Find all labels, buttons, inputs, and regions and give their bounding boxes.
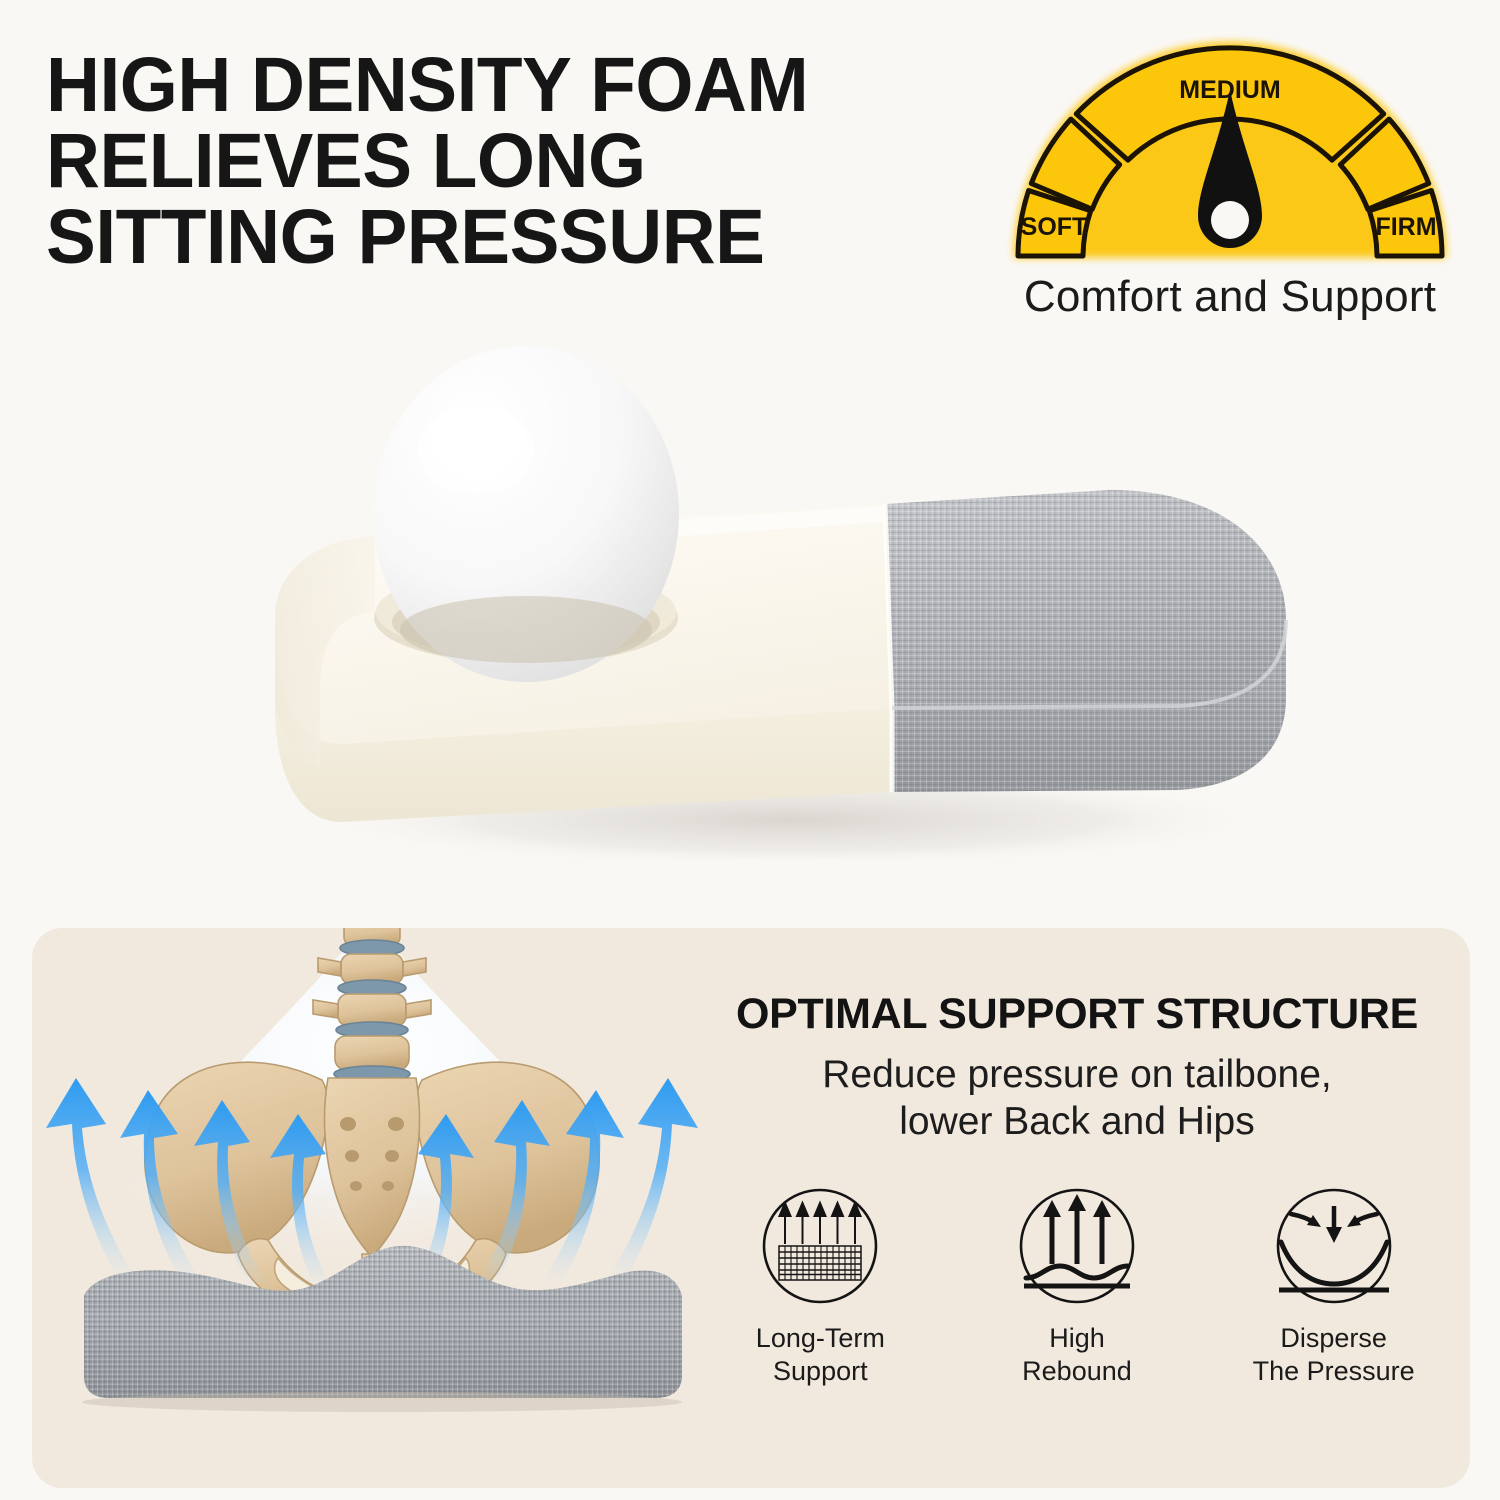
feature-label: Long-Term Support bbox=[756, 1322, 885, 1388]
pelvis-airflow-illustration bbox=[32, 928, 712, 1428]
feature-high-rebound: High Rebound bbox=[967, 1186, 1187, 1388]
gauge-label-firm: FIRM bbox=[1375, 213, 1436, 241]
gauge-dial: SOFT MEDIUM FIRM bbox=[1000, 30, 1460, 270]
hero-product-image bbox=[170, 300, 1350, 860]
pelvis-svg bbox=[32, 928, 712, 1428]
support-subtitle-line-1: Reduce pressure on tailbone, bbox=[692, 1051, 1462, 1098]
support-subtitle: Reduce pressure on tailbone, lower Back … bbox=[692, 1051, 1462, 1145]
support-title: OPTIMAL SUPPORT STRUCTURE bbox=[692, 990, 1462, 1039]
feature-label: Disperse The Pressure bbox=[1253, 1322, 1415, 1388]
headline-line-1: HIGH DENSITY FOAM bbox=[46, 47, 948, 123]
wavy-surface-upward-arrows-icon bbox=[1012, 1186, 1142, 1316]
gauge-label-soft: SOFT bbox=[1021, 213, 1088, 241]
firmness-gauge: SOFT MEDIUM FIRM bbox=[1000, 30, 1460, 322]
pressure-sphere bbox=[373, 346, 679, 682]
gauge-svg: SOFT MEDIUM FIRM bbox=[1000, 30, 1460, 270]
fabric-cover bbox=[885, 490, 1286, 792]
feature-disperse-the-pressure: Disperse The Pressure bbox=[1224, 1186, 1444, 1388]
feature-label: High Rebound bbox=[1022, 1322, 1132, 1388]
concave-surface-converging-arrows-icon bbox=[1269, 1186, 1399, 1316]
spring-mesh-upward-arrows-icon bbox=[755, 1186, 885, 1316]
feature-list: Long-Term Support High Rebound bbox=[692, 1186, 1462, 1388]
headline-line-2: RELIEVES LONG bbox=[46, 123, 948, 199]
page-title: HIGH DENSITY FOAM RELIEVES LONG SITTING … bbox=[46, 47, 976, 275]
optimal-support-panel: OPTIMAL SUPPORT STRUCTURE Reduce pressur… bbox=[32, 928, 1470, 1488]
support-copy: OPTIMAL SUPPORT STRUCTURE Reduce pressur… bbox=[692, 990, 1462, 1145]
support-subtitle-line-2: lower Back and Hips bbox=[692, 1098, 1462, 1145]
hero-svg bbox=[170, 300, 1350, 860]
feature-long-term-support: Long-Term Support bbox=[710, 1186, 930, 1388]
headline-line-3: SITTING PRESSURE bbox=[46, 199, 948, 275]
